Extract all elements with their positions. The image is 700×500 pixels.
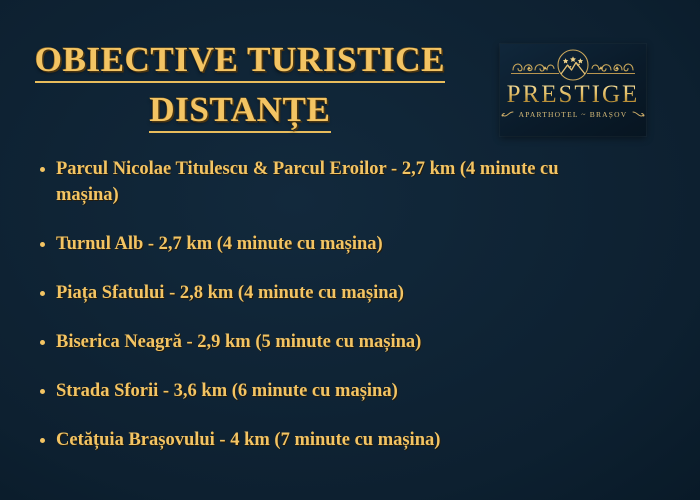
mountain-stars-circle-icon xyxy=(507,48,639,82)
bullet-dot-icon xyxy=(40,167,45,172)
objectives-list: Parcul Nicolae Titulescu & Parcul Eroilo… xyxy=(40,156,660,453)
list-item: Biserica Neagră - 2,9 km (5 minute cu ma… xyxy=(40,329,660,355)
list-item: Piața Sfatului - 2,8 km (4 minute cu maș… xyxy=(40,280,660,306)
list-item-label: Turnul Alb - 2,7 km (4 minute cu mașina) xyxy=(56,231,383,257)
title-line-primary: OBIECTIVE TURISTICE xyxy=(35,40,445,83)
logo-subtitle-row: APARTHOTEL ~ BRAȘOV xyxy=(501,110,646,119)
bullet-dot-icon xyxy=(40,291,45,296)
bullet-dot-icon xyxy=(40,438,45,443)
flourish-left-icon xyxy=(501,111,514,118)
list-item-label: Cetățuia Brașovului - 4 km (7 minute cu … xyxy=(56,427,440,453)
title-line-secondary: DISTANȚE xyxy=(149,90,330,133)
page-title: OBIECTIVE TURISTICE DISTANȚE xyxy=(0,40,480,133)
list-item-label: Biserica Neagră - 2,9 km (5 minute cu ma… xyxy=(56,329,421,355)
bullet-dot-icon xyxy=(40,242,45,247)
bullet-dot-icon xyxy=(40,389,45,394)
logo-inner: PRESTIGE APARTHOTEL ~ BRAȘOV xyxy=(500,44,646,136)
list-item: Strada Sforii - 3,6 km (6 minute cu mași… xyxy=(40,378,660,404)
list-item: Cetățuia Brașovului - 4 km (7 minute cu … xyxy=(40,427,660,453)
list-item: Parcul Nicolae Titulescu & Parcul Eroilo… xyxy=(40,156,660,208)
prestige-logo: PRESTIGE APARTHOTEL ~ BRAȘOV xyxy=(500,44,646,136)
slide-canvas: OBIECTIVE TURISTICE DISTANȚE xyxy=(0,0,700,500)
bullet-dot-icon xyxy=(40,340,45,345)
list-item: Turnul Alb - 2,7 km (4 minute cu mașina) xyxy=(40,231,660,257)
logo-subtitle: APARTHOTEL ~ BRAȘOV xyxy=(519,110,628,119)
list-item-label: Piața Sfatului - 2,8 km (4 minute cu maș… xyxy=(56,280,404,306)
logo-wordmark: PRESTIGE xyxy=(507,82,640,108)
flourish-right-icon xyxy=(632,111,645,118)
logo-emblem-row xyxy=(507,48,639,82)
list-item-label: Strada Sforii - 3,6 km (6 minute cu mași… xyxy=(56,378,398,404)
list-item-label: Parcul Nicolae Titulescu & Parcul Eroilo… xyxy=(56,156,601,208)
